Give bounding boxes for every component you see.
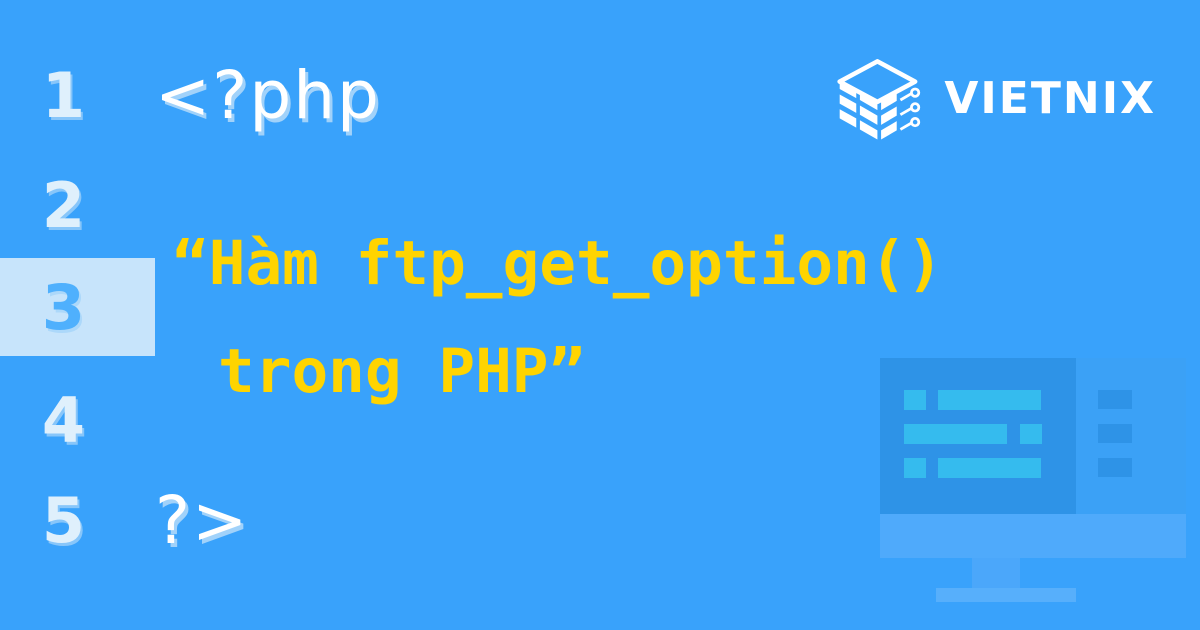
line-number-5: 5 bbox=[0, 484, 155, 557]
code-line-1: 1 <?php bbox=[0, 45, 381, 145]
screen-block bbox=[904, 424, 1007, 444]
sidebar-block bbox=[1098, 390, 1132, 409]
sidebar-block bbox=[1098, 458, 1132, 477]
screen-block bbox=[938, 390, 1041, 410]
code-line-3: 3 bbox=[0, 257, 155, 357]
monitor-screen bbox=[880, 358, 1186, 514]
sidebar-block bbox=[1098, 424, 1132, 443]
monitor-stand-neck bbox=[972, 558, 1020, 588]
screen-block bbox=[904, 390, 926, 410]
page-title-line-1: “Hàm ftp_get_option() bbox=[172, 210, 1052, 318]
code-line-5: 5 ?> bbox=[0, 470, 249, 570]
stacked-layers-icon bbox=[836, 54, 928, 146]
monitor-bezel bbox=[880, 514, 1186, 558]
line-number-3: 3 bbox=[0, 271, 155, 344]
line-number-4: 4 bbox=[0, 384, 155, 457]
screen-block bbox=[1020, 424, 1042, 444]
desktop-monitor-illustration bbox=[880, 358, 1186, 630]
line-number-1: 1 bbox=[0, 59, 155, 132]
line-number-2: 2 bbox=[0, 169, 155, 242]
screen-block bbox=[938, 458, 1041, 478]
brand-wordmark: VIETNIX bbox=[944, 77, 1156, 123]
code-line-4: 4 bbox=[0, 370, 155, 470]
screen-block bbox=[904, 458, 926, 478]
monitor-screen-content bbox=[880, 358, 1076, 514]
code-line-2: 2 bbox=[0, 155, 155, 255]
monitor-stand-foot bbox=[936, 588, 1076, 602]
monitor-screen-sidebar bbox=[1076, 358, 1186, 514]
code-text-5: ?> bbox=[155, 482, 249, 559]
banner-canvas: 1 <?php 2 3 4 5 ?> “Hàm ftp_get_option()… bbox=[0, 0, 1200, 630]
brand-logo[interactable]: VIETNIX bbox=[836, 54, 1156, 146]
code-text-1: <?php bbox=[155, 57, 381, 134]
